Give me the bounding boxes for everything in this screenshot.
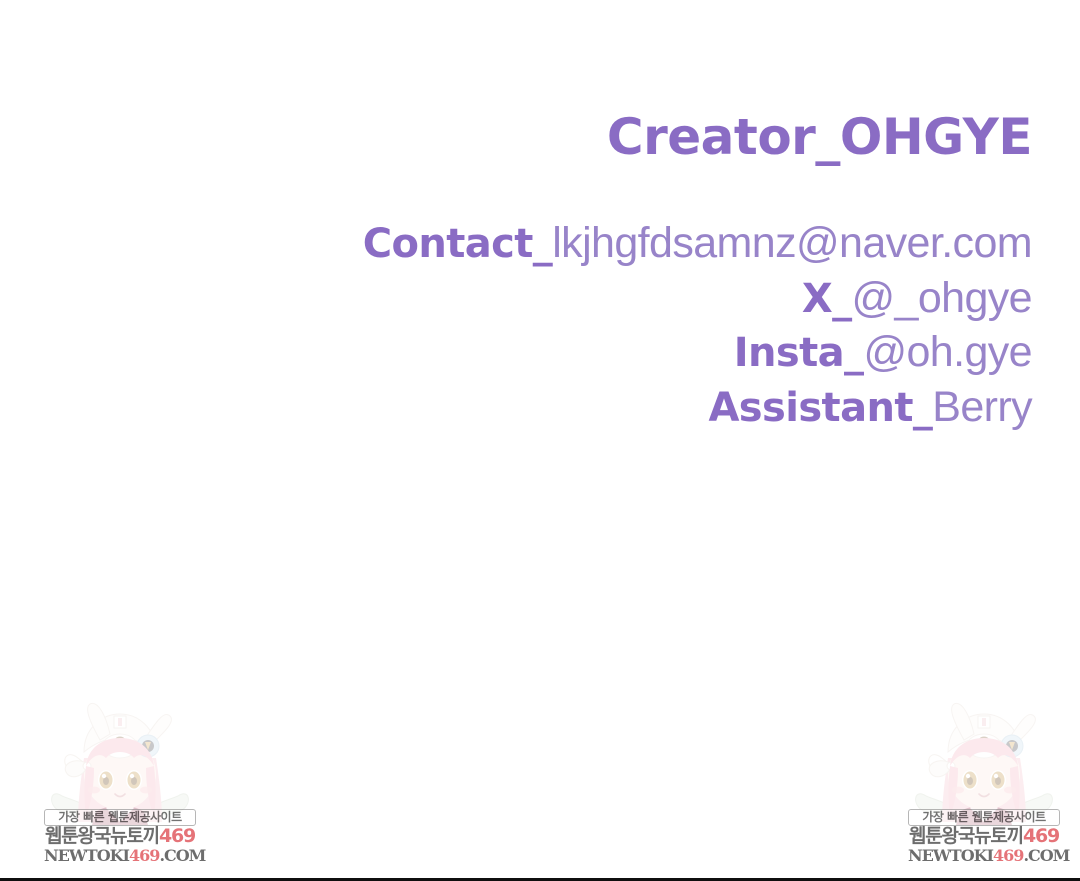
credit-line-assistant: Assistant_Berry xyxy=(0,380,1032,435)
watermark-domain-number: 469 xyxy=(129,846,159,865)
watermark-domain-prefix: NEWTOKI xyxy=(44,846,129,865)
watermark-bottom-right: 가장 빠른 웹툰제공사이트 웹툰왕국뉴토끼469 NEWTOKI469.COM xyxy=(908,700,1060,865)
credit-label-x: X_ xyxy=(802,276,852,322)
watermark-domain-suffix: .COM xyxy=(1023,846,1069,865)
credit-value-x: @_ohgye xyxy=(851,274,1032,322)
watermark-sitename-text: 웹툰왕국뉴토끼 xyxy=(909,825,1023,847)
anime-girl-bunny-hat-icon xyxy=(44,700,196,825)
watermark-tagline: 가장 빠른 웹툰제공사이트 xyxy=(908,809,1060,826)
credit-line-x: X_@_ohgye xyxy=(0,271,1032,326)
watermark-sitename-number: 469 xyxy=(1023,825,1059,847)
watermark-sitename: 웹툰왕국뉴토끼469 xyxy=(44,826,196,847)
watermark-sitename: 웹툰왕국뉴토끼469 xyxy=(908,826,1060,847)
credit-value-insta: @oh.gye xyxy=(863,328,1032,376)
watermark-bottom-left: 가장 빠른 웹툰제공사이트 웹툰왕국뉴토끼469 NEWTOKI469.COM xyxy=(44,700,196,865)
credit-line-contact: Contact_lkjhgfdsamnz@naver.com xyxy=(0,216,1032,271)
anime-girl-bunny-hat-icon xyxy=(908,700,1060,825)
watermark-sitename-text: 웹툰왕국뉴토끼 xyxy=(45,825,159,847)
watermark-domain-suffix: .COM xyxy=(159,846,205,865)
credit-line-insta: Insta_@oh.gye xyxy=(0,325,1032,380)
watermark-tagline: 가장 빠른 웹툰제공사이트 xyxy=(44,809,196,826)
watermark-domain-prefix: NEWTOKI xyxy=(908,846,993,865)
credit-label-contact: Contact_ xyxy=(363,221,552,267)
page-title: Creator_OHGYE xyxy=(0,112,1032,162)
credit-line-list: Contact_lkjhgfdsamnz@naver.com X_@_ohgye… xyxy=(0,216,1032,434)
watermark-domain: NEWTOKI469.COM xyxy=(44,847,196,865)
watermark-text-group: 가장 빠른 웹툰제공사이트 웹툰왕국뉴토끼469 NEWTOKI469.COM xyxy=(908,809,1060,865)
credits-block: Creator_OHGYE Contact_lkjhgfdsamnz@naver… xyxy=(0,0,1080,434)
credit-label-assistant: Assistant_ xyxy=(708,385,932,431)
credit-label-insta: Insta_ xyxy=(734,330,864,376)
watermark-domain: NEWTOKI469.COM xyxy=(908,847,1060,865)
watermark-domain-number: 469 xyxy=(993,846,1023,865)
credit-value-assistant: Berry xyxy=(932,383,1032,431)
comic-credits-page: Creator_OHGYE Contact_lkjhgfdsamnz@naver… xyxy=(0,0,1080,881)
watermark-text-group: 가장 빠른 웹툰제공사이트 웹툰왕국뉴토끼469 NEWTOKI469.COM xyxy=(44,809,196,865)
credit-value-contact: lkjhgfdsamnz@naver.com xyxy=(552,219,1032,267)
watermark-sitename-number: 469 xyxy=(159,825,195,847)
